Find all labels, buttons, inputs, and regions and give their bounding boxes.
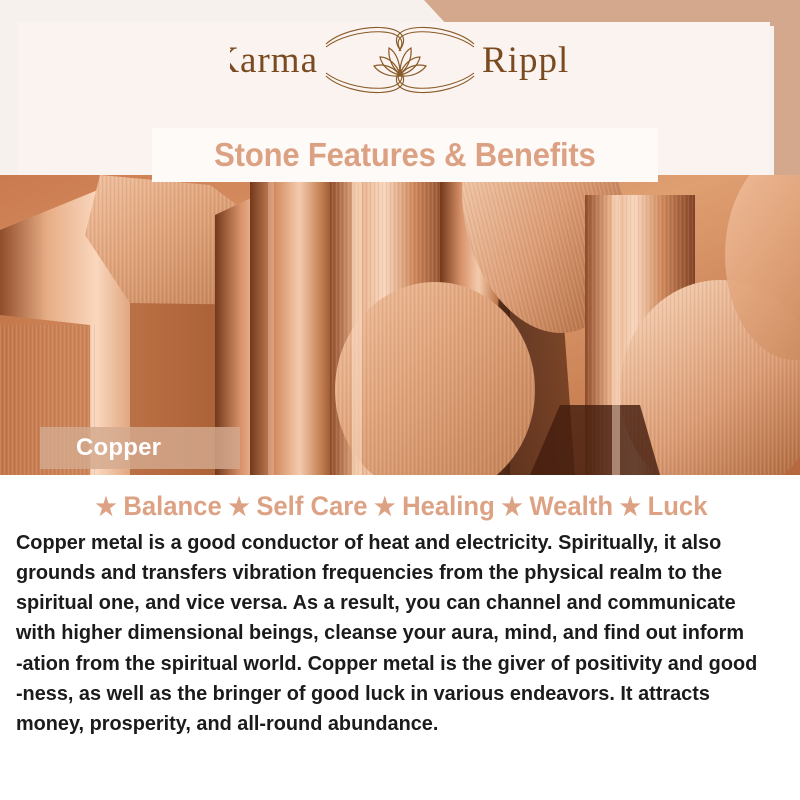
content-card: ★ Balance ★ Self Care ★ Healing ★ Wealth… — [0, 475, 800, 800]
description-text: Copper metal is a good conductor of heat… — [14, 528, 763, 739]
logo-artwork: Karma Ripple — [230, 14, 570, 106]
feature-wealth: Wealth — [527, 491, 614, 522]
description-line: -ation from the spiritual world. Copper … — [16, 649, 761, 679]
brand-name-left: Karma — [230, 40, 318, 81]
feature-luck: Luck — [646, 491, 710, 522]
description-line: Copper metal is a good conductor of heat… — [16, 528, 761, 558]
description-line: with higher dimensional beings, cleanse … — [16, 618, 761, 648]
description-line: spiritual one, and vice versa. As a resu… — [16, 588, 761, 618]
star-icon: ★ — [224, 492, 255, 522]
brand-name-right: Ripple — [482, 40, 570, 81]
photo-label-text: Copper — [40, 434, 161, 462]
feature-balance: Balance — [121, 491, 223, 522]
description-line: grounds and transfers vibration frequenc… — [16, 558, 761, 588]
photo-label-band: Copper — [40, 427, 240, 469]
description-line: -ness, as well as the bringer of good lu… — [16, 679, 761, 709]
swoosh-ornament — [326, 27, 474, 92]
feature-self-care: Self Care — [254, 491, 369, 522]
star-icon: ★ — [369, 492, 400, 522]
description-line: money, prosperity, and all-round abundan… — [16, 709, 761, 739]
copper-photo: Copper — [0, 175, 800, 475]
lotus-icon — [374, 48, 426, 76]
page-title: Stone Features & Benefits — [214, 136, 595, 174]
star-icon: ★ — [497, 492, 528, 522]
brand-logo: Karma Ripple — [0, 10, 800, 110]
star-icon: ★ — [615, 492, 646, 522]
features-list: ★ Balance ★ Self Care ★ Healing ★ Wealth… — [33, 491, 766, 522]
title-banner: Stone Features & Benefits — [152, 128, 658, 182]
feature-healing: Healing — [400, 491, 496, 522]
star-icon: ★ — [91, 492, 122, 522]
